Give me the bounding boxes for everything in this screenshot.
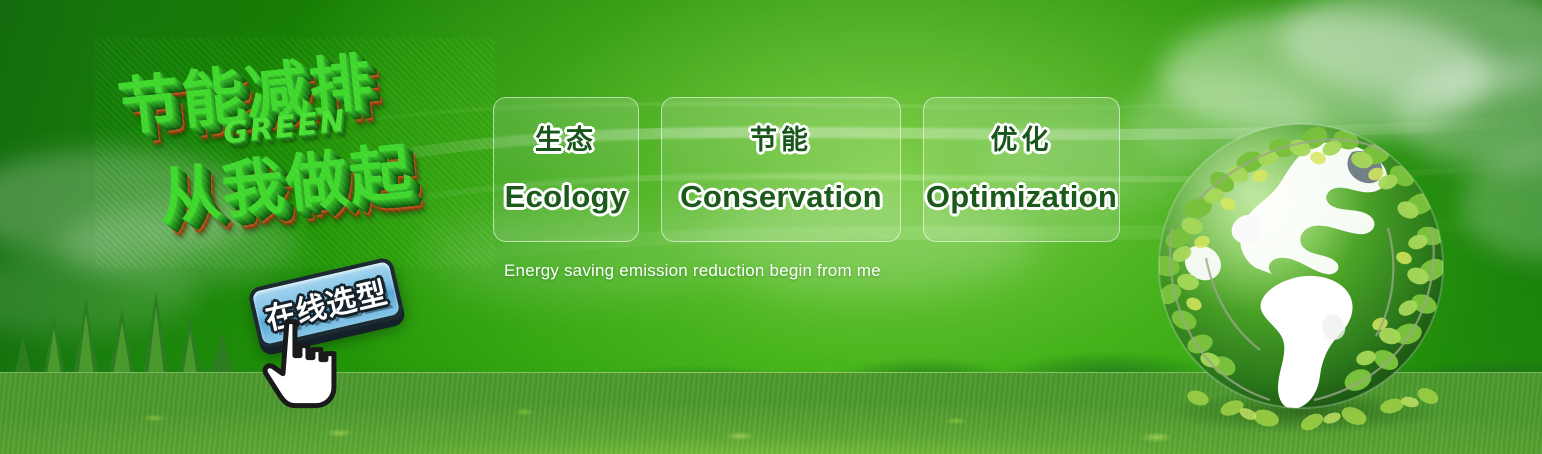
title-art: 节能减排 GREEN 从我做起: [95, 38, 495, 268]
feature-card-title-cn: 节能: [750, 118, 812, 157]
feature-card-title-cn: 优化: [991, 118, 1053, 157]
feature-card-list: 生态 Ecology 节能 Conservation 优化 Optimizati…: [493, 97, 1120, 242]
promo-banner: 节能减排 GREEN 从我做起 在线选型 生态 Ecology 节能 Conse…: [0, 0, 1542, 454]
feature-card-title-en: Conservation: [680, 179, 882, 215]
feature-card-title-cn: 生态: [535, 118, 597, 157]
banner-subtitle: Energy saving emission reduction begin f…: [504, 261, 881, 281]
feature-card-conservation[interactable]: 节能 Conservation: [661, 97, 901, 242]
leafy-green-globe: [1136, 108, 1466, 438]
feature-card-title-en: Ecology: [505, 179, 628, 215]
feature-card-ecology[interactable]: 生态 Ecology: [493, 97, 639, 242]
feature-card-title-en: Optimization: [926, 179, 1117, 215]
feature-card-optimization[interactable]: 优化 Optimization: [923, 97, 1120, 242]
